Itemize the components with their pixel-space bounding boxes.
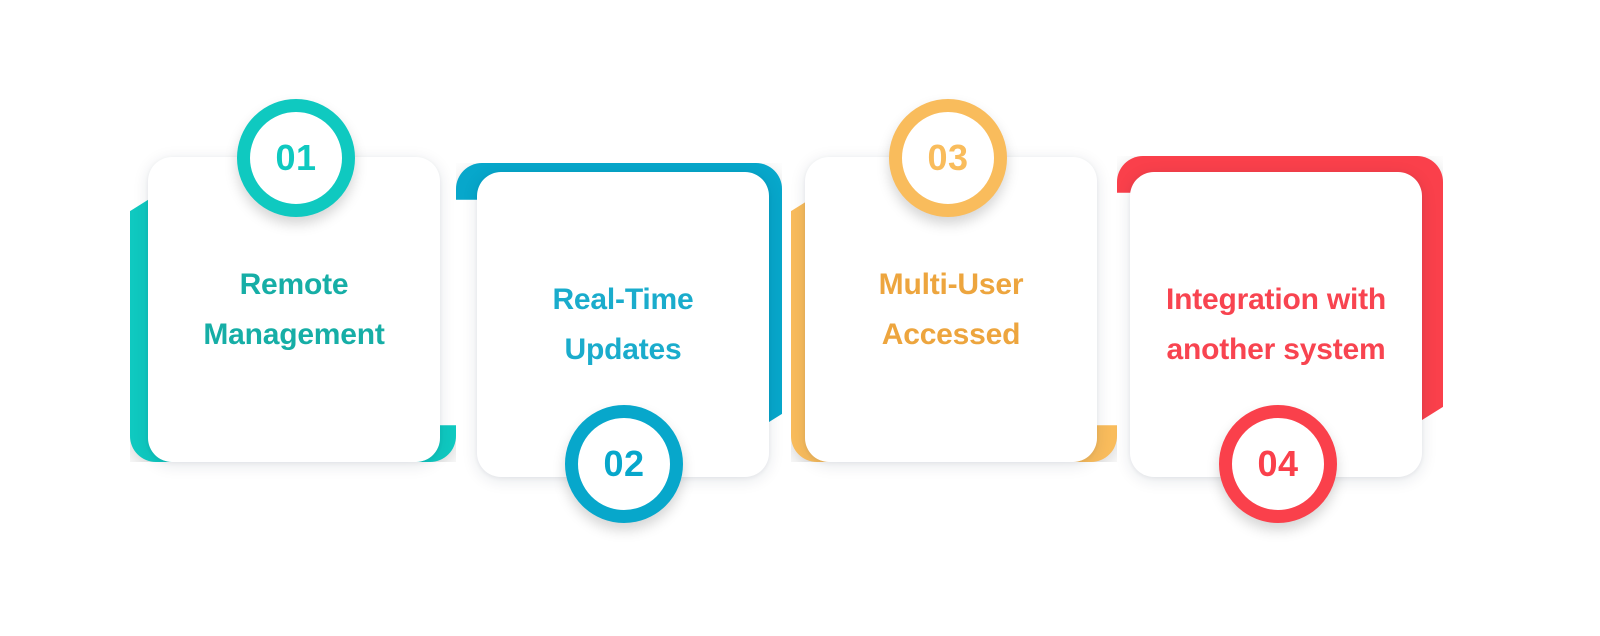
step-number-badge-02[interactable]: 02 — [565, 405, 683, 523]
step-number-badge-03[interactable]: 03 — [889, 99, 1007, 217]
step-number-03: 03 — [927, 140, 968, 176]
infographic-canvas: Remote Management 01 Real-Time Updates 0… — [0, 0, 1600, 636]
step-title-02: Real-Time Updates — [493, 275, 753, 375]
step-number-badge-04[interactable]: 04 — [1219, 405, 1337, 523]
step-title-04: Integration with another system — [1146, 275, 1406, 375]
step-number-04: 04 — [1257, 446, 1298, 482]
step-title-03: Multi-User Accessed — [821, 260, 1081, 360]
step-title-01: Remote Management — [164, 260, 424, 360]
step-number-02: 02 — [603, 446, 644, 482]
step-number-badge-01[interactable]: 01 — [237, 99, 355, 217]
step-number-01: 01 — [275, 140, 316, 176]
